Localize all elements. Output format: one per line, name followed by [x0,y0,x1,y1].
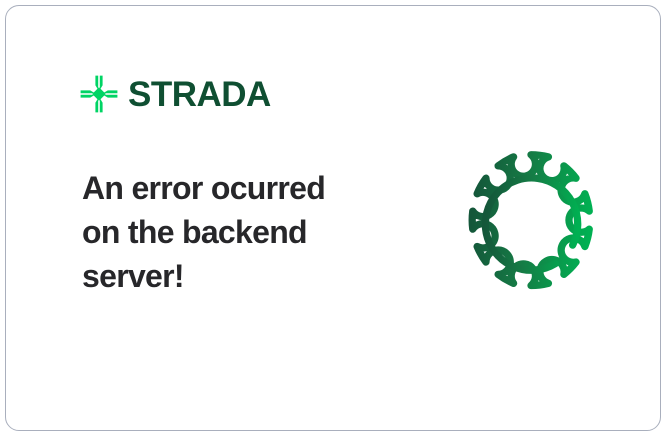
error-message-line-1: An error ocurred [82,166,382,210]
error-message-line-3: server! [82,254,382,298]
brand-logo: STRADA [79,72,271,116]
error-card: STRADA An error ocurred on the backend s… [5,5,661,431]
error-message: An error ocurred on the backend server! [82,166,382,298]
error-screen: STRADA An error ocurred on the backend s… [0,0,666,436]
strada-asterisk-icon [79,74,119,114]
gear-cog-icon [450,145,612,307]
brand-wordmark: STRADA [128,77,271,112]
error-message-line-2: on the backend [82,210,382,254]
